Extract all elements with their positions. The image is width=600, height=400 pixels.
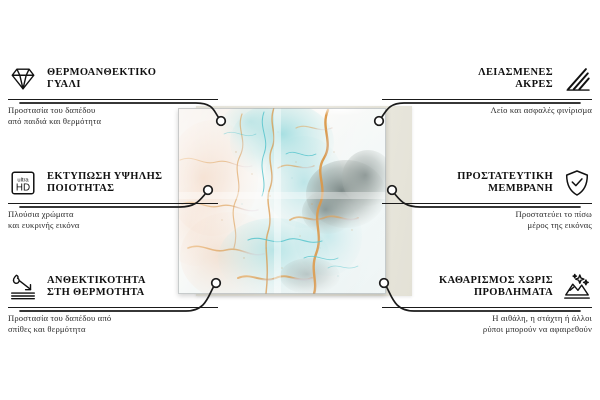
feature-title: ΚΑΘΑΡΙΣΜΟΣ ΧΩΡΙΣ ΠΡΟΒΛΗΜΑΤΑ bbox=[439, 275, 553, 300]
feature-title: ΠΡΟΣΤΑΤΕΥΤΙΚΗ ΜΕΜΒΡΑΝΗ bbox=[457, 171, 553, 196]
feature-heading: ΘΕΡΜΟΑΝΘΕΚΤΙΚΟ ΓΥΑΛΙ bbox=[8, 62, 218, 96]
title-line: ΜΕΜΒΡΑΝΗ bbox=[457, 183, 553, 195]
title-line: ΓΥΑΛΙ bbox=[47, 79, 156, 91]
title-line: ΠΡΟΣΤΑΤΕΥΤΙΚΗ bbox=[457, 171, 553, 183]
desc-line: μέρος της εικόνας bbox=[382, 220, 592, 231]
divider bbox=[382, 99, 592, 100]
feature-easy-cleaning: ΚΑΘΑΡΙΣΜΟΣ ΧΩΡΙΣ ΠΡΟΒΛΗΜΑΤΑ Η αιθάλη, η … bbox=[382, 270, 592, 336]
feature-heading: ultra HD ΕΚΤΥΠΩΣΗ ΥΨΗΛΗΣ ΠΟΙΟΤΗΤΑΣ bbox=[8, 166, 218, 200]
title-line: ΣΤΗ ΘΕΡΜΟΤΗΤΑ bbox=[47, 287, 146, 299]
divider bbox=[382, 203, 592, 204]
divider bbox=[8, 99, 218, 100]
desc-line: Προστασία του δαπέδου από bbox=[8, 313, 218, 324]
feature-protective-membrane: ΠΡΟΣΤΑΤΕΥΤΙΚΗ ΜΕΜΒΡΑΝΗ Προστατεύει το πί… bbox=[382, 166, 592, 232]
shield-check-icon bbox=[562, 168, 592, 198]
desc-line: σπίθες και θερμότητα bbox=[8, 324, 218, 335]
feature-heading: ΑΝΘΕΚΤΙΚΟΤΗΤΑ ΣΤΗ ΘΕΡΜΟΤΗΤΑ bbox=[8, 270, 218, 304]
flame-deflect-icon bbox=[8, 272, 38, 302]
feature-description: Η αιθάλη, η στάχτη ή άλλοι ρύποι μπορούν… bbox=[382, 313, 592, 336]
desc-line: Προστασία του δαπέδου bbox=[8, 105, 218, 116]
feature-heading: ΚΑΘΑΡΙΣΜΟΣ ΧΩΡΙΣ ΠΡΟΒΛΗΜΑΤΑ bbox=[382, 270, 592, 304]
title-line: ΘΕΡΜΟΑΝΘΕΚΤΙΚΟ bbox=[47, 67, 156, 79]
divider bbox=[382, 307, 592, 308]
feature-description: Προστατεύει το πίσω μέρος της εικόνας bbox=[382, 209, 592, 232]
title-line: ΕΚΤΥΠΩΣΗ ΥΨΗΛΗΣ bbox=[47, 171, 162, 183]
title-line: ΑΝΘΕΚΤΙΚΟΤΗΤΑ bbox=[47, 275, 146, 287]
icon-text-hd: HD bbox=[16, 183, 30, 194]
polished-edges-icon bbox=[562, 64, 592, 94]
feature-title: ΘΕΡΜΟΑΝΘΕΚΤΙΚΟ ΓΥΑΛΙ bbox=[47, 67, 156, 92]
sparkle-clean-icon bbox=[562, 272, 592, 302]
title-line: ΠΡΟΒΛΗΜΑΤΑ bbox=[439, 287, 553, 299]
desc-line: Προστατεύει το πίσω bbox=[382, 209, 592, 220]
feature-heading: ΛΕΙΑΣΜΕΝΕΣ ΑΚΡΕΣ bbox=[382, 62, 592, 96]
desc-line: και ευκρινής εικόνα bbox=[8, 220, 218, 231]
ultra-hd-icon: ultra HD bbox=[8, 168, 38, 198]
infographic-canvas: ΘΕΡΜΟΑΝΘΕΚΤΙΚΟ ΓΥΑΛΙ Προστασία του δαπέδ… bbox=[0, 0, 600, 400]
feature-heading: ΠΡΟΣΤΑΤΕΥΤΙΚΗ ΜΕΜΒΡΑΝΗ bbox=[382, 166, 592, 200]
feature-description: Προστασία του δαπέδου από σπίθες και θερ… bbox=[8, 313, 218, 336]
desc-line: Λείο και ασφαλές φινίρισμα bbox=[382, 105, 592, 116]
feature-heat-resistant-glass: ΘΕΡΜΟΑΝΘΕΚΤΙΚΟ ΓΥΑΛΙ Προστασία του δαπέδ… bbox=[8, 62, 218, 128]
desc-line: Πλούσια χρώματα bbox=[8, 209, 218, 220]
desc-line: από παιδιά και θερμότητα bbox=[8, 116, 218, 127]
feature-title: ΛΕΙΑΣΜΕΝΕΣ ΑΚΡΕΣ bbox=[478, 67, 553, 92]
desc-line: Η αιθάλη, η στάχτη ή άλλοι bbox=[382, 313, 592, 324]
desc-line: ρύποι μπορούν να αφαιρεθούν bbox=[382, 324, 592, 335]
feature-high-quality-print: ultra HD ΕΚΤΥΠΩΣΗ ΥΨΗΛΗΣ ΠΟΙΟΤΗΤΑΣ Πλούσ… bbox=[8, 166, 218, 232]
title-line: ΛΕΙΑΣΜΕΝΕΣ bbox=[478, 67, 553, 79]
feature-heat-durability: ΑΝΘΕΚΤΙΚΟΤΗΤΑ ΣΤΗ ΘΕΡΜΟΤΗΤΑ Προστασία το… bbox=[8, 270, 218, 336]
feature-description: Πλούσια χρώματα και ευκρινής εικόνα bbox=[8, 209, 218, 232]
title-line: ΑΚΡΕΣ bbox=[478, 79, 553, 91]
feature-description: Προστασία του δαπέδου από παιδιά και θερ… bbox=[8, 105, 218, 128]
divider bbox=[8, 307, 218, 308]
feature-title: ΕΚΤΥΠΩΣΗ ΥΨΗΛΗΣ ΠΟΙΟΤΗΤΑΣ bbox=[47, 171, 162, 196]
feature-polished-edges: ΛΕΙΑΣΜΕΝΕΣ ΑΚΡΕΣ Λείο και ασφαλές φινίρι… bbox=[382, 62, 592, 116]
divider bbox=[8, 203, 218, 204]
diamond-icon bbox=[8, 64, 38, 94]
feature-title: ΑΝΘΕΚΤΙΚΟΤΗΤΑ ΣΤΗ ΘΕΡΜΟΤΗΤΑ bbox=[47, 275, 146, 300]
feature-description: Λείο και ασφαλές φινίρισμα bbox=[382, 105, 592, 116]
title-line: ΠΟΙΟΤΗΤΑΣ bbox=[47, 183, 162, 195]
title-line: ΚΑΘΑΡΙΣΜΟΣ ΧΩΡΙΣ bbox=[439, 275, 553, 287]
